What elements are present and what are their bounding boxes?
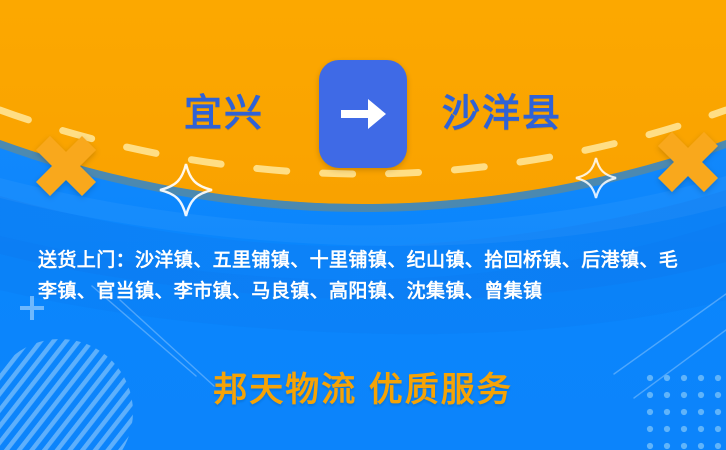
logistics-route-banner: 宜兴 沙洋县 送货上门：沙洋镇、五里铺镇、十里铺镇、纪山镇、拾回桥镇、后港镇、毛… — [0, 0, 726, 450]
sparkle-star-icon — [160, 164, 212, 216]
delivery-coverage-text: 送货上门：沙洋镇、五里铺镇、十里铺镇、纪山镇、拾回桥镇、后港镇、毛李镇、官当镇、… — [38, 246, 693, 308]
company-slogan: 邦天物流 优质服务 — [0, 362, 726, 411]
arrow-right-icon — [337, 94, 389, 134]
origin-city-label: 宜兴 — [129, 95, 319, 133]
route-arrow-box — [319, 60, 407, 168]
route-header: 宜兴 沙洋县 — [0, 58, 726, 170]
destination-city-label: 沙洋县 — [407, 95, 597, 133]
